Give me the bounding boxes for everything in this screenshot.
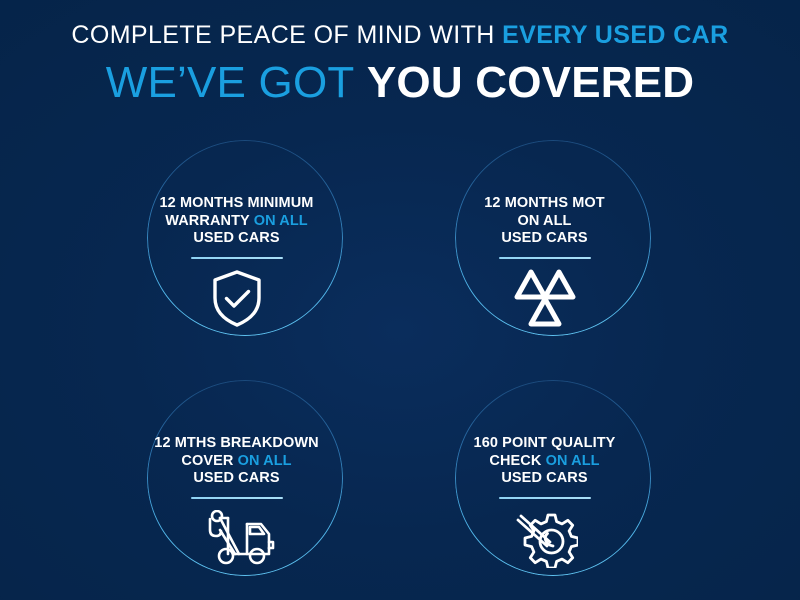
feature-title-line-3: USED CARS [430,230,660,248]
feature-title-line-1: 12 MONTHS MINIMUM [122,195,352,213]
feature-title-line-2: ON ALL [430,213,660,231]
feature-title-line-3: USED CARS [430,470,660,488]
feature-title-line-3: USED CARS [122,230,352,248]
feature-title-blue-part: ON ALL [238,453,292,469]
gear-wrench-icon [430,508,660,568]
feature-title-white-part: CHECK [489,453,545,469]
feature-title-line-1: 12 MTHS BREAKDOWN [122,435,352,453]
feature-title-line-3: USED CARS [122,470,352,488]
feature-title-line-1: 160 POINT QUALITY [430,435,660,453]
headline-line-1: COMPLETE PEACE OF MIND WITH EVERY USED C… [0,20,800,50]
headline-line-2-accent: WE’VE GOT [106,58,355,107]
feature-title-white-part: WARRANTY [165,213,253,229]
headline-line-2: WE’VE GOT YOU COVERED [0,56,800,110]
feature-content: 160 POINT QUALITY CHECK ON ALL USED CARS [430,380,660,568]
headline-line-1-accent: EVERY USED CAR [502,21,729,49]
feature-content: 12 MONTHS MOT ON ALL USED CARS [430,140,660,328]
feature-circle-warranty[interactable]: 12 MONTHS MINIMUM WARRANTY ON ALL USED C… [147,140,343,336]
feature-divider [191,257,283,259]
mot-triangles-icon [430,268,660,328]
feature-circle-quality[interactable]: 160 POINT QUALITY CHECK ON ALL USED CARS [455,380,651,576]
feature-circle-mot[interactable]: 12 MONTHS MOT ON ALL USED CARS [455,140,651,336]
feature-title-blue-part: ON ALL [546,453,600,469]
shield-check-icon [122,268,352,328]
promo-banner: COMPLETE PEACE OF MIND WITH EVERY USED C… [0,0,800,600]
feature-divider [191,497,283,499]
feature-divider [499,497,591,499]
feature-content: 12 MTHS BREAKDOWN COVER ON ALL USED CARS [122,380,352,568]
feature-divider [499,257,591,259]
feature-title-white-part: COVER [181,453,237,469]
tow-truck-icon [122,508,352,568]
feature-circle-breakdown[interactable]: 12 MTHS BREAKDOWN COVER ON ALL USED CARS [147,380,343,576]
headline-line-1-white: COMPLETE PEACE OF MIND WITH [71,21,502,49]
feature-title-line-2: WARRANTY ON ALL [122,213,352,231]
feature-content: 12 MONTHS MINIMUM WARRANTY ON ALL USED C… [122,140,352,328]
feature-title-line-2: COVER ON ALL [122,453,352,471]
headline-block: COMPLETE PEACE OF MIND WITH EVERY USED C… [0,20,800,110]
feature-title-line-1: 12 MONTHS MOT [430,195,660,213]
feature-title-line-2: CHECK ON ALL [430,453,660,471]
headline-line-2-white: YOU COVERED [354,58,694,107]
feature-title-blue-part: ON ALL [254,213,308,229]
